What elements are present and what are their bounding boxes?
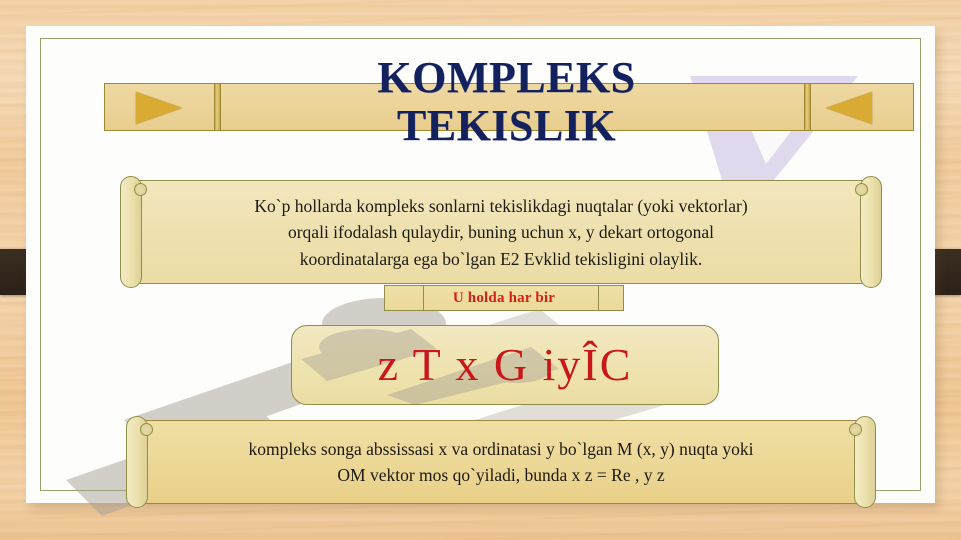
paragraph-scroll-top: Ko`p hollarda kompleks sonlarni tekislik… <box>130 180 872 284</box>
formula-text: z T x G iyÎC <box>378 342 633 388</box>
slide-card: KOMPLEKS TEKISLIK Ko`p hollarda kompleks… <box>26 26 935 503</box>
presentation-slide: KOMPLEKS TEKISLIK Ko`p hollarda kompleks… <box>0 0 961 540</box>
caption-segment-right <box>598 286 599 310</box>
paragraph-bottom-text: kompleks songa abssissasi x va ordinatas… <box>137 421 865 501</box>
paragraph-top-text: Ko`p hollarda kompleks sonlarni tekislik… <box>131 181 871 284</box>
page-title: KOMPLEKS TEKISLIK <box>26 54 961 149</box>
paragraph-scroll-bottom: kompleks songa abssissasi x va ordinatas… <box>136 420 866 504</box>
caption-segment-left <box>423 286 424 310</box>
caption-text: U holda har bir <box>453 290 555 307</box>
formula-box: z T x G iyÎC <box>291 325 719 405</box>
caption-banner: U holda har bir <box>384 285 624 311</box>
